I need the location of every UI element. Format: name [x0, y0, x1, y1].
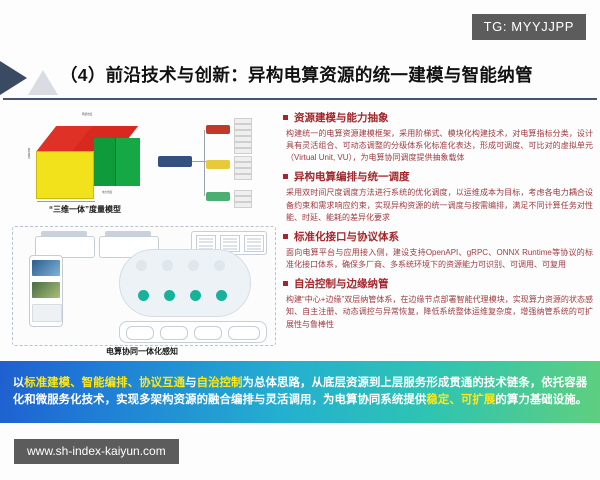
arch-chip [194, 326, 222, 340]
slide-title-bar: （4）前沿技术与创新：异构电算资源的统一建模与智能纳管 [0, 60, 600, 106]
page-title: （4）前沿技术与创新：异构电算资源的统一建模与智能纳管 [60, 62, 533, 87]
mindmap-root-node [158, 156, 192, 167]
triangle-accent-icon [28, 70, 58, 95]
arch-chip [126, 326, 154, 340]
cube-shape [36, 126, 140, 200]
compute-node [164, 290, 175, 301]
section-heading-text: 标准化接口与协议体系 [294, 229, 399, 244]
slide-canvas: TG: MYYJJPP （4）前沿技术与创新：异构电算资源的统一建模与智能纳管 … [0, 0, 600, 480]
banner-plain: 以 [13, 377, 25, 389]
banner-highlight: 自治控制 [197, 377, 243, 389]
server-icon [244, 235, 264, 252]
section-resource-modeling: 资源建模与能力抽象 构建统一的电算资源建模框架，采用阶梯式、模块化构建技术，对电… [283, 110, 593, 164]
cloud-node [188, 260, 199, 271]
section-heading: 异构电算编排与统一调度 [283, 169, 593, 184]
triangle-arrow-icon [0, 61, 27, 95]
cube-face-green-inner [94, 138, 116, 186]
section-orchestration: 异构电算编排与统一调度 采用双时间尺度调度方法进行系统的优化调度，以运维成本为目… [283, 169, 593, 223]
section-autonomous-edge: 自治控制与边缘纳管 构建“中心+边缘”双层纳管体系，在边缘节点部署智能代理模块，… [283, 276, 593, 330]
banner-plain: 的算力基础设施。 [495, 394, 587, 406]
cloud-node [162, 260, 173, 271]
watermark-url: www.sh-index-kaiyun.com [14, 439, 179, 464]
mindmap-branch-3 [206, 192, 230, 201]
cube-caption: “三维一体”度量模型 [10, 204, 160, 215]
architecture-diagram [12, 226, 276, 346]
cube-yellow-divider [37, 201, 95, 202]
device-screen-image [32, 260, 60, 276]
mindmap-diagram [158, 112, 276, 212]
arch-chip [160, 326, 188, 340]
summary-banner-text: 以标准建模、智能编排、协议互通与自治控制为总体思路，从底层资源到上层服务形成贯通… [12, 375, 588, 410]
section-heading: 资源建模与能力抽象 [283, 110, 593, 125]
banner-plain: 与 [185, 377, 197, 389]
architecture-caption: 电算协同一体化感知 [6, 346, 278, 357]
tg-badge: TG: MYYJJPP [472, 14, 586, 40]
diagram-column: 网络维度 算力维度 电力维度 “三维一体”度量模型 [6, 108, 278, 364]
content-sections: 资源建模与能力抽象 构建统一的电算资源建模框架，采用阶梯式、模块化构建技术，对电… [283, 110, 593, 336]
mindmap-branch-1 [206, 125, 230, 134]
bullet-square-icon [283, 234, 288, 239]
cube-label-left: 算力维度 [26, 148, 30, 158]
banner-highlight: 稳定、可扩展 [426, 394, 495, 406]
device-screen-image [32, 304, 62, 322]
banner-highlight: 标准建模、智能编排、协议互通 [24, 377, 185, 389]
cloud-node [136, 260, 147, 271]
arch-chip [228, 326, 260, 340]
cloud-region [119, 249, 251, 317]
mindmap-spine [204, 130, 205, 196]
summary-banner: 以标准建模、智能编排、协议互通与自治控制为总体思路，从底层资源到上层服务形成贯通… [0, 361, 600, 423]
section-body: 采用双时间尺度调度方法进行系统的优化调度，以运维成本为目标，考虑各电力耦合设备约… [286, 187, 593, 223]
bullet-square-icon [283, 174, 288, 179]
cube-face-yellow [36, 151, 94, 199]
section-body: 构建“中心+边缘”双层纳管体系，在边缘节点部署智能代理模块，实现算力资源的状态感… [286, 294, 593, 330]
mindmap-leaf [234, 148, 252, 154]
compute-node [138, 290, 149, 301]
compute-node [216, 290, 227, 301]
section-heading-text: 资源建模与能力抽象 [294, 110, 389, 125]
section-heading: 自治控制与边缘纳管 [283, 276, 593, 291]
section-body: 构建统一的电算资源建模框架，采用阶梯式、模块化构建技术，对电算指标分类，设计具有… [286, 128, 593, 164]
device-mockup [29, 255, 63, 327]
bullet-square-icon [283, 281, 288, 286]
cloud-node [214, 260, 225, 271]
mindmap-leaf [234, 202, 252, 208]
compute-node [190, 290, 201, 301]
device-screen-image [32, 282, 60, 298]
cube-label-top: 网络维度 [82, 112, 92, 116]
bullet-square-icon [283, 115, 288, 120]
section-heading-text: 自治控制与边缘纳管 [294, 276, 389, 291]
mindmap-leaf [234, 174, 252, 180]
section-heading-text: 异构电算编排与统一调度 [294, 169, 410, 184]
section-standard-interface: 标准化接口与协议体系 面向电算平台与应用接入侧，建设支持OpenAPI、gRPC… [283, 229, 593, 271]
cube-diagram: 网络维度 算力维度 电力维度 “三维一体”度量模型 [10, 108, 160, 218]
title-divider [3, 98, 597, 100]
mindmap-branch-2 [206, 160, 230, 169]
section-heading: 标准化接口与协议体系 [283, 229, 593, 244]
section-body: 面向电算平台与应用接入侧，建设支持OpenAPI、gRPC、ONNX Runti… [286, 247, 593, 271]
arch-bottom-bar [119, 321, 267, 343]
